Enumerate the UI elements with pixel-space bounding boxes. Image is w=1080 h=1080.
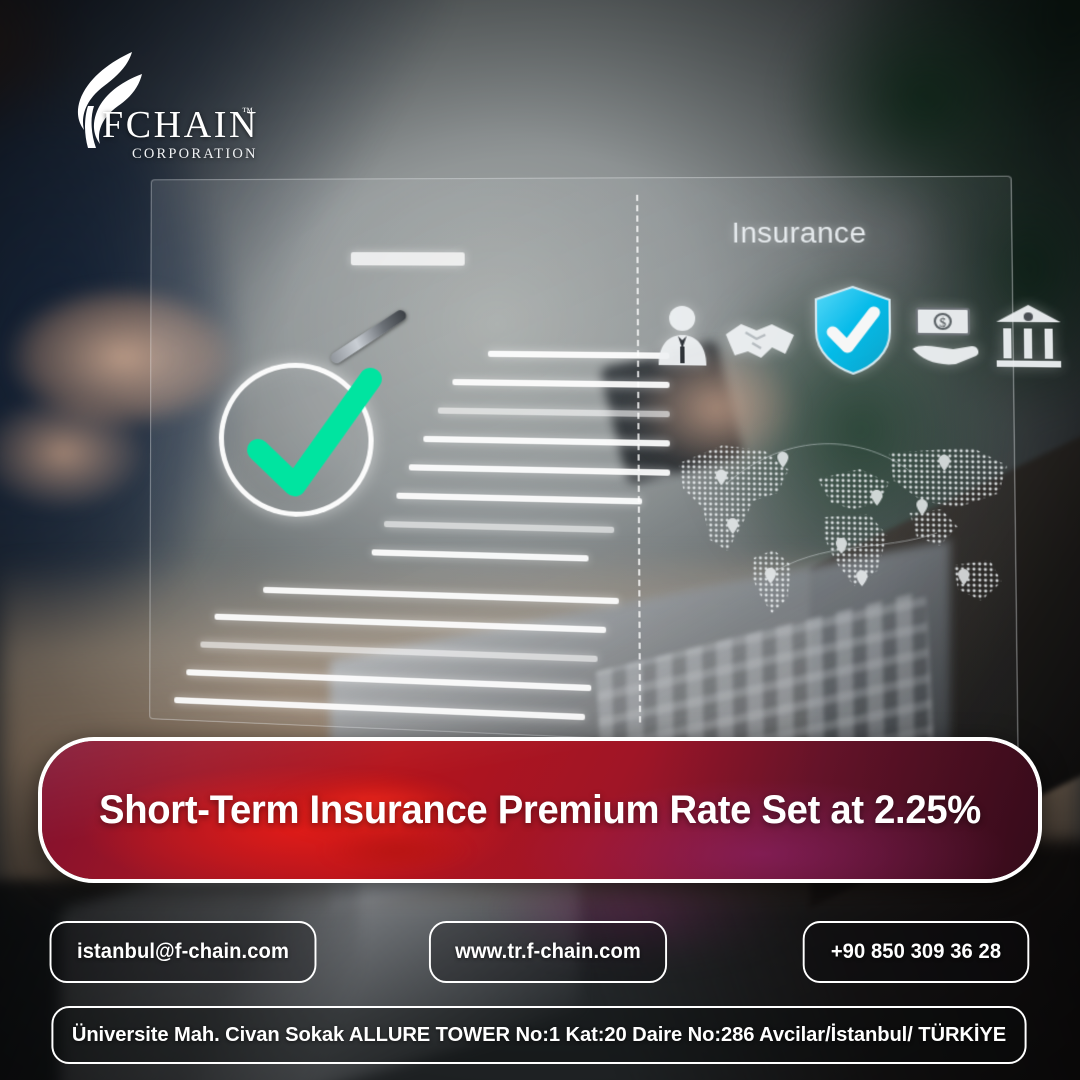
insurance-label: Insurance	[732, 217, 867, 250]
headline-banner: Short-Term Insurance Premium Rate Set at…	[38, 737, 1042, 883]
contact-email-pill[interactable]: istanbul@f-chain.com	[50, 921, 317, 983]
green-checkmark-icon	[216, 331, 421, 537]
contact-phone-pill[interactable]: +90 850 309 36 28	[803, 921, 1030, 983]
money-in-hand-icon: $	[910, 306, 983, 368]
handshake-icon	[723, 311, 796, 366]
contact-address-bar: Üniversite Mah. Civan Sokak ALLURE TOWER…	[51, 1006, 1026, 1064]
green-check-circle	[219, 362, 374, 519]
svg-text:$: $	[939, 315, 946, 330]
logo-wordmark: FCHAIN	[102, 106, 259, 144]
bank-building-icon	[994, 303, 1064, 370]
logo-subtitle: CORPORATION	[132, 146, 258, 163]
vertical-dashed-divider	[636, 195, 641, 723]
insurance-icon-row: $	[654, 286, 1011, 369]
trademark-symbol: ™	[242, 106, 253, 118]
insurance-agent-icon	[654, 303, 711, 366]
hologram-glass-panel: Insurance	[149, 176, 1018, 757]
shield-check-icon	[811, 285, 894, 377]
contact-website-pill[interactable]: www.tr.f-chain.com	[429, 921, 667, 983]
brand-logo: FCHAIN ™ CORPORATION	[58, 48, 238, 160]
headline-text: Short-Term Insurance Premium Rate Set at…	[64, 741, 1015, 879]
dotted-world-map	[659, 417, 1030, 628]
